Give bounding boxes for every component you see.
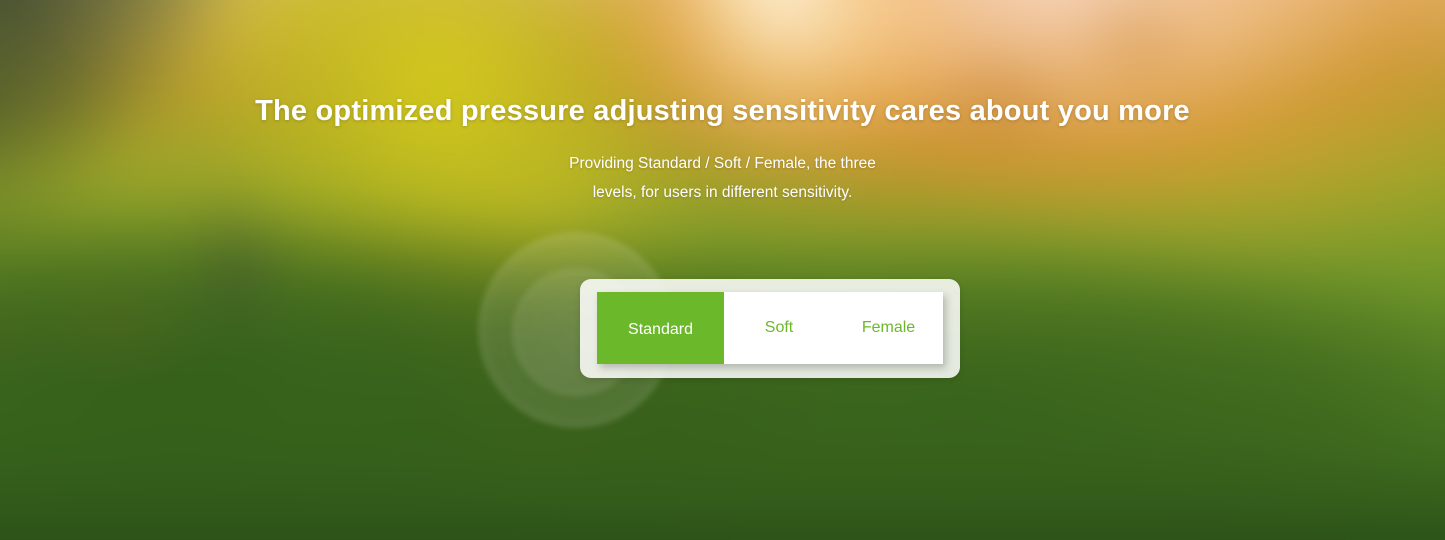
hero-subheadline: Providing Standard / Soft / Female, the …	[0, 149, 1445, 207]
sensitivity-option-female[interactable]: Female	[834, 292, 943, 364]
sensitivity-switch-track: Standard Soft Female	[597, 292, 943, 364]
sensitivity-switch: Standard Soft Female	[580, 279, 960, 378]
hero-headline: The optimized pressure adjusting sensiti…	[0, 92, 1445, 130]
hero-subheadline-line-1: Providing Standard / Soft / Female, the …	[0, 149, 1445, 178]
hero-subheadline-line-2: levels, for users in different sensitivi…	[0, 178, 1445, 207]
hero-content: The optimized pressure adjusting sensiti…	[0, 0, 1445, 540]
sensitivity-option-soft[interactable]: Soft	[724, 292, 834, 364]
sensitivity-option-standard[interactable]: Standard	[597, 292, 724, 364]
hero-banner: The optimized pressure adjusting sensiti…	[0, 0, 1445, 540]
